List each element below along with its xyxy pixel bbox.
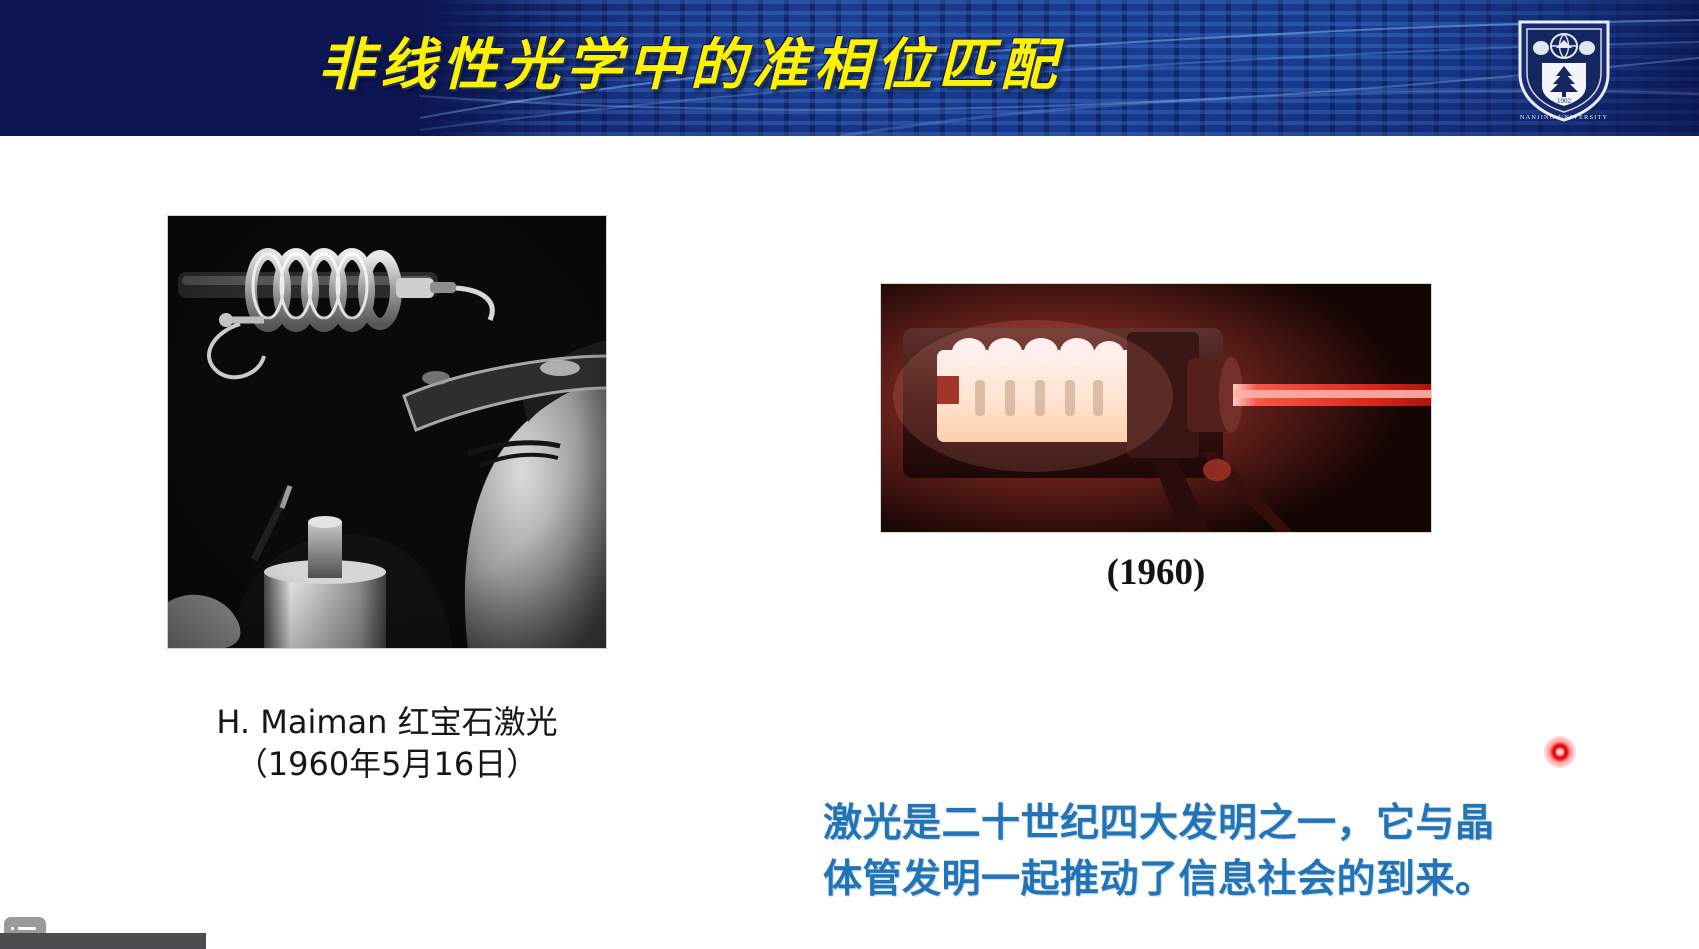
body-paragraph: 激光是二十世纪四大发明之一，它与晶 体管发明一起推动了信息社会的到来。 [823,796,1543,908]
ruby-laser-firing-photo [880,283,1432,533]
list-row-1 [11,927,39,930]
maiman-photo [167,215,607,649]
list-bullet-icon [11,927,14,930]
nanjing-university-logo-icon: 1902 NANJING UNIVERSITY [1512,16,1616,124]
presentation-slide: 非线性光学中的准相位匹配 1902 NANJING UNIVERSITY [0,0,1699,949]
maiman-caption-line1: H. Maiman 红宝石激光 [216,703,557,741]
svg-text:1902: 1902 [1557,97,1572,105]
body-paragraph-line1: 激光是二十世纪四大发明之一，它与晶 [823,796,1543,852]
slide-content-area: (1960) H. Maiman 红宝石激光 （1960年5月16日） 激光是二… [0,136,1699,949]
taskbar-sliver[interactable] [0,933,206,949]
list-line [18,927,36,930]
page-title: 非线性光学中的准相位匹配 [0,20,1380,101]
ruby-laser-caption: (1960) [880,551,1432,594]
maiman-caption-line2: （1960年5月16日） [127,744,647,786]
svg-text:NANJING UNIVERSITY: NANJING UNIVERSITY [1520,114,1609,121]
slide-header-banner: 非线性光学中的准相位匹配 1902 NANJING UNIVERSITY [0,0,1699,136]
maiman-caption: H. Maiman 红宝石激光 （1960年5月16日） [127,702,647,785]
body-paragraph-line2: 体管发明一起推动了信息社会的到来。 [823,852,1543,908]
laser-pointer-dot [1544,736,1576,768]
